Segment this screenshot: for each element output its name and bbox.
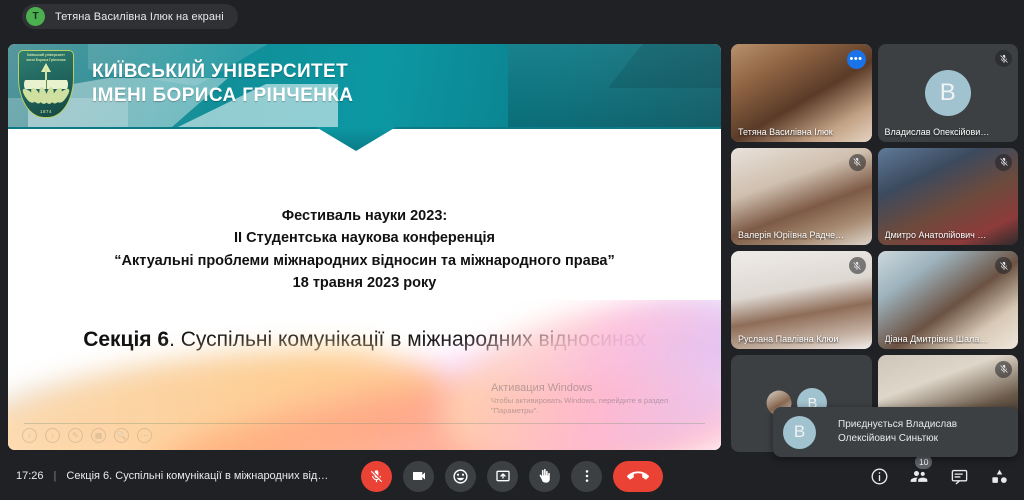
people-button[interactable]: 10 — [906, 463, 932, 489]
more-options-button[interactable] — [571, 461, 602, 492]
participant-tile[interactable]: ••• Тетяна Василівна Ілюк — [731, 44, 872, 142]
presenting-chip[interactable]: T Тетяна Василівна Ілюк на екрані — [22, 4, 238, 29]
mic-off-icon — [995, 361, 1012, 378]
present-button[interactable] — [487, 461, 518, 492]
more-options-icon[interactable]: ••• — [847, 50, 866, 69]
participant-name: Руслана Павлівна Клюи — [738, 334, 852, 344]
mic-off-icon — [849, 257, 866, 274]
call-controls — [361, 452, 663, 500]
avatar: В — [925, 70, 971, 116]
toast-line-1: Приєднується Владислав — [838, 418, 957, 433]
mic-off-icon — [849, 154, 866, 171]
more-icon[interactable]: ⋯ — [137, 428, 152, 443]
toast-avatar: В — [783, 416, 816, 449]
mic-off-icon — [995, 154, 1012, 171]
toast-message: Приєднується Владислав Олексійович Синьт… — [838, 418, 957, 447]
participant-tile[interactable]: Валерія Юріївна Радче… — [731, 148, 872, 246]
participant-name: Діана Дмитрівна Шала… — [885, 334, 999, 344]
chat-button[interactable] — [946, 463, 972, 489]
university-crest-icon: Київський університет імені Бориса Грінч… — [18, 50, 74, 118]
raise-hand-button[interactable] — [529, 461, 560, 492]
meta-separator: | — [54, 470, 57, 482]
banner-title: КИЇВСЬКИЙ УНІВЕРСИТЕТ ІМЕНІ БОРИСА ГРІНЧ… — [92, 60, 353, 109]
microphone-button[interactable] — [361, 461, 392, 492]
participant-tile[interactable]: Діана Дмитрівна Шала… — [878, 251, 1019, 349]
banner-title-line1: КИЇВСЬКИЙ УНІВЕРСИТЕТ — [92, 60, 353, 84]
conf-line-2: II Студентська наукова конференція — [8, 227, 721, 249]
reactions-button[interactable] — [445, 461, 476, 492]
conference-heading: Фестиваль науки 2023: II Студентська нау… — [8, 205, 721, 295]
participant-name: Владислав Опексійови… — [885, 127, 999, 137]
participant-name: Валерія Юріївна Радче… — [738, 230, 852, 240]
participant-name: Тетяна Василівна Ілюк — [738, 127, 852, 137]
participant-name: Дмитро Анатолійович … — [885, 230, 999, 240]
activities-button[interactable] — [986, 463, 1012, 489]
camera-button[interactable] — [403, 461, 434, 492]
people-count-badge: 10 — [915, 455, 932, 469]
grid-view-icon[interactable]: ▦ — [91, 428, 106, 443]
right-controls: 10 — [866, 452, 1012, 500]
participant-grid: ••• Тетяна Василівна Ілюк В Владислав Оп… — [731, 44, 1018, 452]
meeting-title: Секція 6. Суспільні комунікації в міжнар… — [66, 470, 328, 482]
powerpoint-slideshow-controls[interactable]: ‹ › ✎ ▦ 🔍 ⋯ — [22, 428, 152, 443]
conf-line-3: “Актуальні проблеми міжнародних відносин… — [8, 250, 721, 272]
participant-tile[interactable]: Руслана Павлівна Клюи — [731, 251, 872, 349]
next-slide-icon[interactable]: › — [45, 428, 60, 443]
conf-line-4: 18 травня 2023 року — [8, 272, 721, 294]
conf-line-1: Фестиваль науки 2023: — [8, 205, 721, 227]
presentation-stage[interactable]: Київський університет імені Бориса Грінч… — [8, 44, 721, 450]
meeting-details-button[interactable] — [866, 463, 892, 489]
end-call-button[interactable] — [613, 461, 663, 492]
pen-icon[interactable]: ✎ — [68, 428, 83, 443]
slide-body: Фестиваль науки 2023: II Студентська нау… — [8, 151, 721, 450]
slide-divider — [24, 423, 705, 424]
presenter-avatar: T — [26, 7, 45, 26]
prev-slide-icon[interactable]: ‹ — [22, 428, 37, 443]
banner-title-line2: ІМЕНІ БОРИСА ГРІНЧЕНКА — [92, 84, 353, 108]
participant-tile[interactable]: Дмитро Анатолійович … — [878, 148, 1019, 246]
meeting-meta: 17:26 | Секція 6. Суспільні комунікації … — [16, 452, 328, 500]
toast-line-2: Олексійович Синьтюк — [838, 432, 957, 447]
join-notification-toast[interactable]: В Приєднується Владислав Олексійович Син… — [773, 407, 1018, 457]
zoom-icon[interactable]: 🔍 — [114, 428, 129, 443]
bottom-bar: 17:26 | Секція 6. Суспільні комунікації … — [0, 452, 1024, 500]
crest-year: 1874 — [18, 109, 74, 114]
clock: 17:26 — [16, 470, 44, 482]
mic-off-icon — [995, 257, 1012, 274]
top-bar: T Тетяна Василівна Ілюк на екрані — [0, 0, 1024, 33]
mic-off-icon — [995, 50, 1012, 67]
participant-tile[interactable]: В Владислав Опексійови… — [878, 44, 1019, 142]
slide: Київський університет імені Бориса Грінч… — [8, 44, 721, 450]
banner-notch — [316, 127, 396, 151]
presenting-label: Тетяна Василівна Ілюк на екрані — [55, 11, 224, 23]
